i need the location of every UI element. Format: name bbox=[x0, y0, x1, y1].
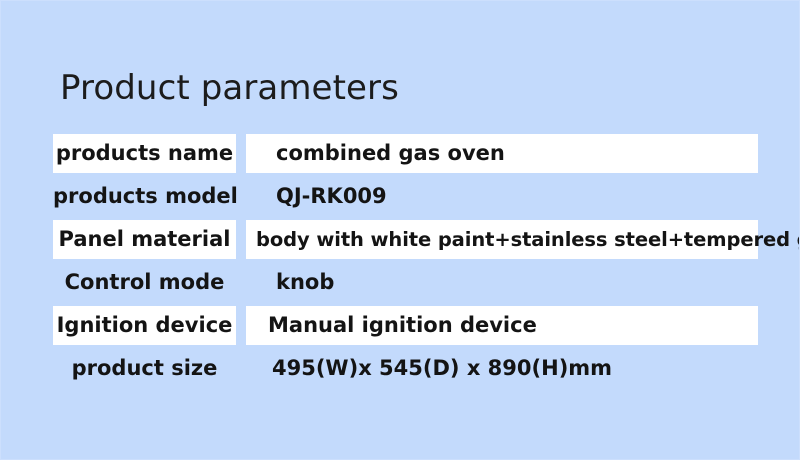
table-row: product size 495(W)x 545(D) x 890(H)mm bbox=[53, 347, 758, 390]
spec-value-product-size: 495(W)x 545(D) x 890(H)mm bbox=[246, 349, 758, 388]
spec-value-products-model: QJ-RK009 bbox=[246, 177, 758, 216]
spec-value-panel-material: body with white paint+stainless steel+te… bbox=[246, 220, 758, 259]
specification-table: products name combined gas oven products… bbox=[53, 132, 758, 390]
table-row: Ignition device Manual ignition device bbox=[53, 304, 758, 347]
spec-label-product-size: product size bbox=[53, 349, 236, 388]
spec-value-control-mode: knob bbox=[246, 263, 758, 302]
spec-label-control-mode: Control mode bbox=[53, 263, 236, 302]
spec-label-products-name: products name bbox=[53, 134, 236, 173]
spec-label-panel-material: Panel material bbox=[53, 220, 236, 259]
table-row: Control mode knob bbox=[53, 261, 758, 304]
table-row: Panel material body with white paint+sta… bbox=[53, 218, 758, 261]
spec-label-ignition-device: Ignition device bbox=[53, 306, 236, 345]
product-parameters-panel: Product parameters products name combine… bbox=[0, 0, 800, 460]
spec-value-ignition-device: Manual ignition device bbox=[246, 306, 758, 345]
table-row: products name combined gas oven bbox=[53, 132, 758, 175]
spec-value-products-name: combined gas oven bbox=[246, 134, 758, 173]
table-row: products model QJ-RK009 bbox=[53, 175, 758, 218]
page-title: Product parameters bbox=[60, 68, 399, 108]
spec-label-products-model: products model bbox=[53, 177, 236, 216]
